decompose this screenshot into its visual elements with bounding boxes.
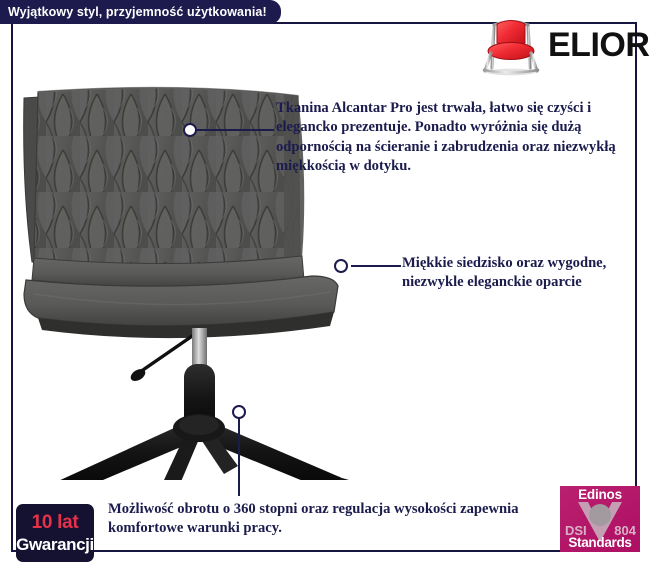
callout-marker-backrest (183, 123, 197, 137)
callout-text-swivel: Możliwość obrotu o 360 stopni oraz regul… (108, 500, 548, 539)
product-infographic: Wyjątkowy styl, przyjemność użytkowania! (0, 0, 650, 564)
red-chair-icon (480, 13, 542, 77)
callout-line-base (238, 418, 240, 496)
callout-line-seat (351, 265, 401, 267)
brand-logo: ELIOR (480, 12, 638, 78)
warranty-label: Gwarancji (16, 532, 94, 553)
callout-marker-base (232, 405, 246, 419)
certification-badge: Edinos DSI 804 Standards (560, 486, 640, 552)
warranty-years: 10 lat (16, 504, 94, 532)
certification-subtitle: Standards (560, 535, 640, 550)
headline-ribbon: Wyjątkowy styl, przyjemność użytkowania! (0, 0, 281, 24)
callout-text-seat: Miękkie siedzisko oraz wygodne, niezwykl… (402, 254, 632, 293)
callout-text-fabric: Tkanina Alcantar Pro jest trwała, łatwo … (276, 99, 634, 177)
warranty-badge: 10 lat Gwarancji (16, 504, 94, 562)
callout-marker-seat (334, 259, 348, 273)
brand-name: ELIOR (548, 28, 649, 62)
callout-line-backrest (196, 129, 274, 131)
